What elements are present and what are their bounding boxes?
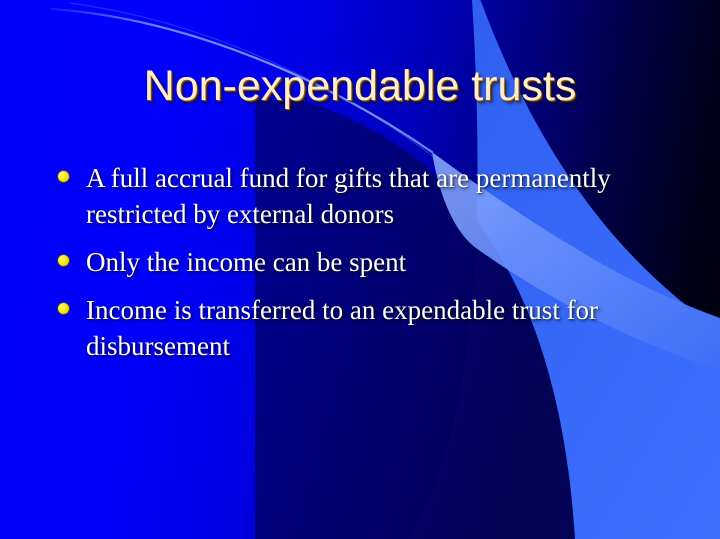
- bullet-item-text: A full accrual fund for gifts that are p…: [86, 160, 688, 232]
- slide-title: Non-expendable trusts: [144, 62, 577, 111]
- bullet-item: Income is transferred to an expendable t…: [58, 292, 688, 364]
- bullet-item: A full accrual fund for gifts that are p…: [58, 160, 688, 232]
- bullet-item-text: Income is transferred to an expendable t…: [86, 292, 688, 364]
- presentation-slide: Non-expendable trusts A full accrual fun…: [0, 0, 720, 539]
- filled-circle-bullet-icon: [58, 303, 69, 314]
- bullet-item: Only the income can be spent: [58, 244, 688, 280]
- filled-circle-bullet-icon: [58, 171, 69, 182]
- slide-body-bullet-list: A full accrual fund for gifts that are p…: [58, 160, 688, 376]
- filled-circle-bullet-icon: [58, 255, 69, 266]
- slide-title-container: Non-expendable trusts: [0, 62, 720, 111]
- bullet-item-text: Only the income can be spent: [86, 244, 688, 280]
